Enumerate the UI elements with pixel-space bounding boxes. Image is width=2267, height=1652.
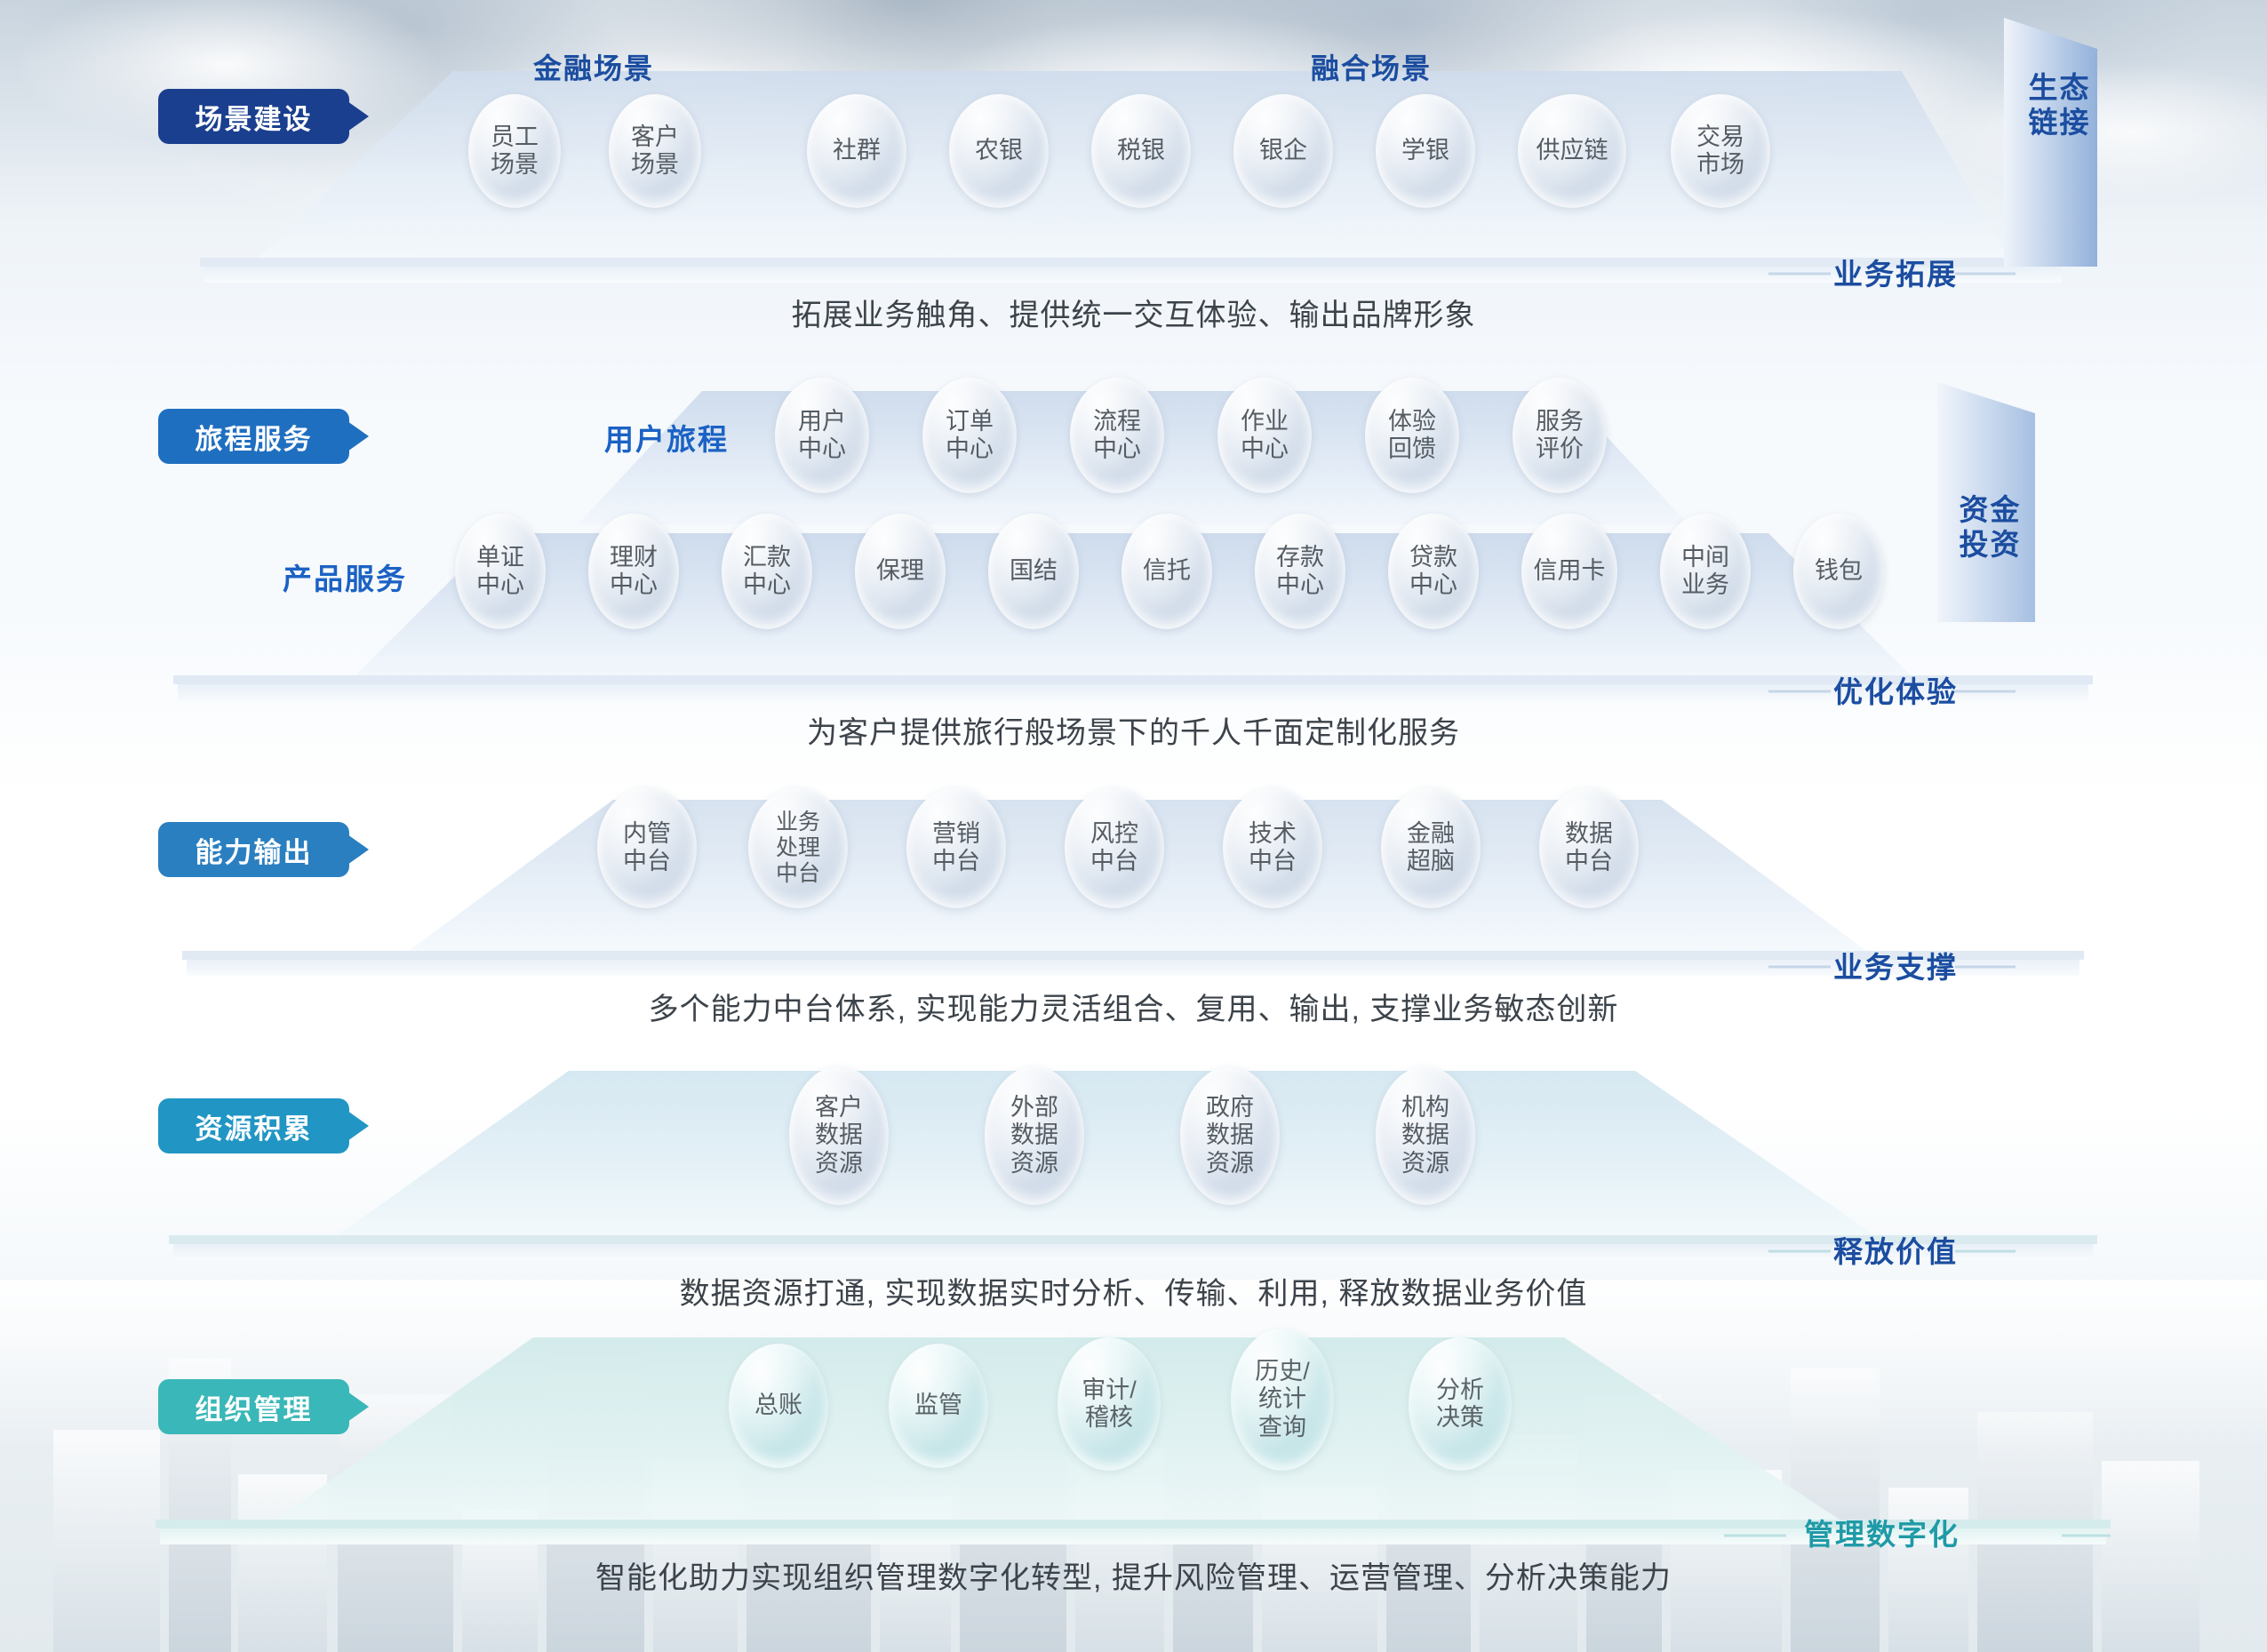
layer-desc-organization: 智能化助力实现组织管理数字化转型, 提升风险管理、运营管理、分析决策能力 xyxy=(0,1553,2267,1597)
layer-pill-journey[interactable]: 旅程服务 xyxy=(158,409,349,464)
bubble-journey-5[interactable]: 体验 回馈 xyxy=(1365,378,1459,493)
right-label-business-support: 业务支撑 xyxy=(1833,944,1958,986)
row-caption-product-service: 产品服务 xyxy=(283,555,407,598)
bubble-product-7[interactable]: 存款 中心 xyxy=(1255,514,1345,629)
bubble-scene-3[interactable]: 社群 xyxy=(807,94,906,208)
bubble-journey-3[interactable]: 流程 中心 xyxy=(1070,378,1164,493)
bubble-scene-2[interactable]: 客户 场景 xyxy=(609,94,701,208)
layer-desc-journey: 为客户提供旅行般场景下的千人千面定制化服务 xyxy=(0,708,2267,752)
right-tab-ecosystem[interactable]: 生态 链接 xyxy=(2017,71,2102,196)
layer-desc-resource: 数据资源打通, 实现数据实时分析、传输、利用, 释放数据业务价值 xyxy=(0,1269,2267,1313)
bubble-product-4[interactable]: 保理 xyxy=(855,514,946,629)
layer-pill-label: 旅程服务 xyxy=(196,417,313,457)
bubble-product-8[interactable]: 贷款 中心 xyxy=(1388,514,1479,629)
bubble-product-5[interactable]: 国结 xyxy=(988,514,1079,629)
bubble-scene-1[interactable]: 员工 场景 xyxy=(468,94,561,208)
layer-pill-resource[interactable]: 资源积累 xyxy=(158,1098,349,1153)
bubble-journey-4[interactable]: 作业 中心 xyxy=(1217,378,1312,493)
right-tab-capital-investment[interactable]: 资金 投资 xyxy=(1948,493,2032,618)
bubble-product-2[interactable]: 理财 中心 xyxy=(588,514,679,629)
bubble-capability-6[interactable]: 金融 超脑 xyxy=(1381,787,1481,908)
bubble-product-6[interactable]: 信托 xyxy=(1122,514,1212,629)
layer-pill-label: 组织管理 xyxy=(196,1387,313,1427)
bubble-product-9[interactable]: 信用卡 xyxy=(1521,514,1617,629)
bubble-product-11[interactable]: 钱包 xyxy=(1793,514,1884,629)
bubble-resource-2[interactable]: 外部 数据 资源 xyxy=(985,1066,1084,1205)
bubble-product-3[interactable]: 汇款 中心 xyxy=(722,514,812,629)
bubble-org-2[interactable]: 监管 xyxy=(889,1344,988,1468)
bubble-journey-1[interactable]: 用户 中心 xyxy=(775,378,869,493)
bubble-resource-3[interactable]: 政府 数据 资源 xyxy=(1180,1066,1280,1205)
layer-pill-scene[interactable]: 场景建设 xyxy=(158,89,349,144)
architecture-diagram: 场景建设 金融场景 融合场景 员工 场景 客户 场景 社群 农银 税银 银企 学… xyxy=(0,0,2267,1652)
right-label-optimize-experience: 优化体验 xyxy=(1833,668,1958,711)
bubble-journey-6[interactable]: 服务 评价 xyxy=(1513,378,1607,493)
layer-pill-label: 场景建设 xyxy=(196,97,313,137)
layer-pill-capability[interactable]: 能力输出 xyxy=(158,822,349,877)
bubble-resource-4[interactable]: 机构 数据 资源 xyxy=(1376,1066,1475,1205)
right-label-release-value: 释放价值 xyxy=(1833,1228,1958,1271)
bubble-capability-3[interactable]: 营销 中台 xyxy=(906,787,1006,908)
layer-desc-capability: 多个能力中台体系, 实现能力灵活组合、复用、输出, 支撑业务敏态创新 xyxy=(0,985,2267,1028)
layer-pill-label: 资源积累 xyxy=(196,1106,313,1146)
bubble-scene-4[interactable]: 农银 xyxy=(949,94,1049,208)
bubble-capability-2[interactable]: 业务 处理 中台 xyxy=(748,787,848,908)
bubble-org-3[interactable]: 审计/ 稽核 xyxy=(1058,1337,1161,1471)
right-tab-label: 生态 链接 xyxy=(2017,71,2102,140)
bubble-org-1[interactable]: 总账 xyxy=(729,1344,828,1468)
bubble-journey-2[interactable]: 订单 中心 xyxy=(922,378,1017,493)
bubble-product-10[interactable]: 中间 业务 xyxy=(1660,514,1751,629)
bubble-scene-8[interactable]: 供应链 xyxy=(1518,94,1626,208)
right-label-management-digitalization: 管理数字化 xyxy=(1804,1511,1960,1553)
bubble-capability-5[interactable]: 技术 中台 xyxy=(1223,787,1322,908)
bubble-scene-7[interactable]: 学银 xyxy=(1376,94,1475,208)
bubble-capability-7[interactable]: 数据 中台 xyxy=(1539,787,1639,908)
bubble-capability-4[interactable]: 风控 中台 xyxy=(1065,787,1164,908)
layer-pill-label: 能力输出 xyxy=(196,830,313,870)
bubble-org-5[interactable]: 分析 决策 xyxy=(1409,1337,1512,1471)
row-caption-user-journey: 用户旅程 xyxy=(604,416,729,459)
group-caption-financial-scene: 金融场景 xyxy=(533,46,654,87)
right-label-business-expansion: 业务拓展 xyxy=(1833,251,1958,293)
bubble-resource-1[interactable]: 客户 数据 资源 xyxy=(789,1066,889,1205)
right-tab-label: 资金 投资 xyxy=(1948,493,2032,563)
bubble-capability-1[interactable]: 内管 中台 xyxy=(597,787,697,908)
layer-desc-scene: 拓展业务触角、提供统一交互体验、输出品牌形象 xyxy=(0,291,2267,334)
bubble-org-4[interactable]: 历史/ 统计 查询 xyxy=(1231,1329,1334,1471)
bubble-product-1[interactable]: 单证 中心 xyxy=(455,514,546,629)
bubble-scene-9[interactable]: 交易 市场 xyxy=(1671,94,1770,208)
bubble-scene-6[interactable]: 银企 xyxy=(1233,94,1333,208)
bubble-scene-5[interactable]: 税银 xyxy=(1091,94,1191,208)
group-caption-integrated-scene: 融合场景 xyxy=(1311,46,1432,87)
layer-pill-organization[interactable]: 组织管理 xyxy=(158,1379,349,1434)
